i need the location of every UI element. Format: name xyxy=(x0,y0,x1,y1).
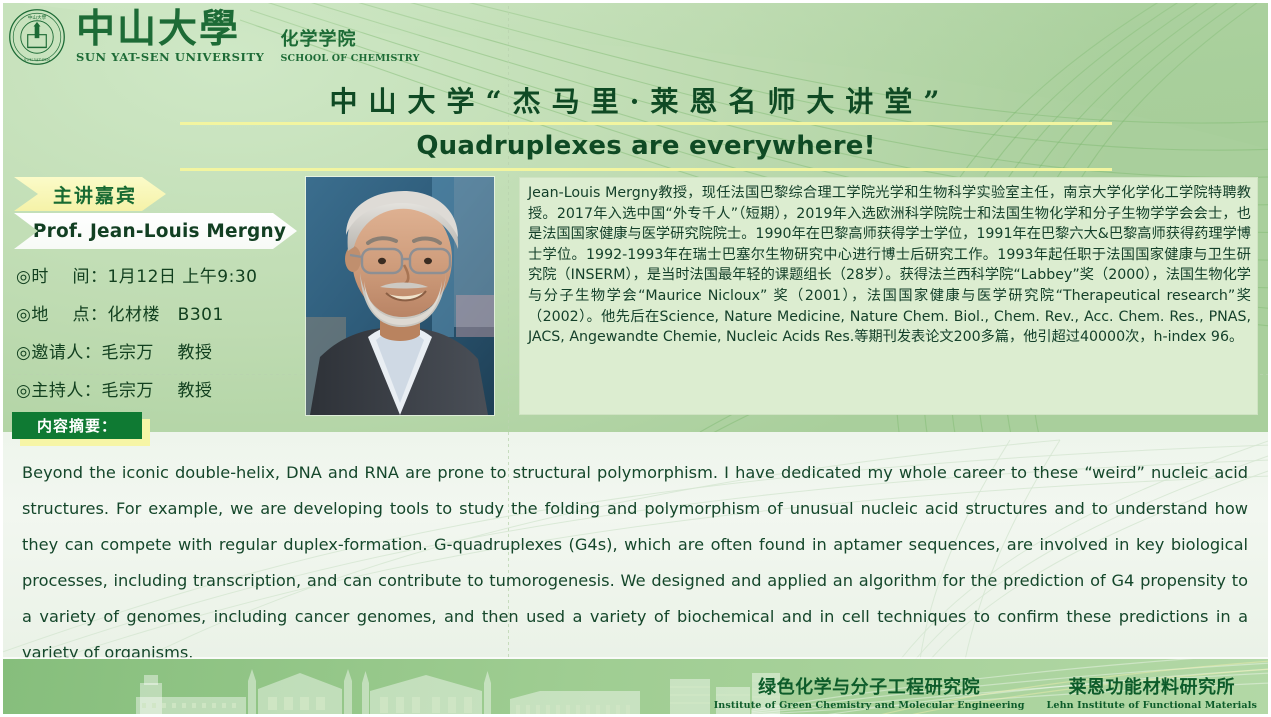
speaker-biography-panel: Jean-Louis Mergny教授，现任法国巴黎综合理工学院光学和生物科学实… xyxy=(519,177,1258,415)
speaker-portrait-photo xyxy=(306,177,494,415)
lecture-detail-host: ◎主持人：毛宗万 教授 xyxy=(16,376,316,401)
institute-green-chemistry: 绿色化学与分子工程研究院 Institute of Green Chemistr… xyxy=(714,673,1025,711)
institute-name-cn: 莱恩功能材料研究所 xyxy=(1047,673,1257,699)
title-divider-top xyxy=(180,122,1112,125)
lecture-series-title-cn: 中山大学“杰马里·莱恩名师大讲堂” xyxy=(170,80,1110,120)
university-name-cn: 中山大學 xyxy=(76,10,264,50)
lecture-detail-time: ◎时 间：1月12日 上午9:30 xyxy=(16,262,316,287)
lecture-detail-inviter: ◎邀请人：毛宗万 教授 xyxy=(16,338,316,363)
footer-institute-logos: 绿色化学与分子工程研究院 Institute of Green Chemistr… xyxy=(714,673,1257,711)
school-name-cn: 化学学院 xyxy=(280,25,419,51)
university-seal-icon: 中山大學 SUN YAT-SEN xyxy=(8,8,66,66)
svg-text:SUN YAT-SEN: SUN YAT-SEN xyxy=(24,58,51,62)
speaker-name-label: Prof. Jean-Louis Mergny xyxy=(25,221,286,242)
title-divider-bottom xyxy=(180,168,1112,171)
abstract-tab: 内容摘要： xyxy=(12,412,142,439)
lecture-details-list: ◎时 间：1月12日 上午9:30 ◎地 点：化材楼 B301 ◎邀请人：毛宗万… xyxy=(16,262,316,414)
lecture-title-en: Quadruplexes are everywhere! xyxy=(180,131,1112,161)
abstract-tab-label: 内容摘要： xyxy=(37,415,117,436)
university-name-en: SUN YAT-SEN UNIVERSITY xyxy=(76,50,264,64)
svg-text:中山大學: 中山大學 xyxy=(28,14,47,21)
institute-name-en: Institute of Green Chemistry and Molecul… xyxy=(714,700,1025,711)
lecture-detail-venue: ◎地 点：化材楼 B301 xyxy=(16,300,316,325)
footer-top-divider xyxy=(0,657,1271,659)
institute-name-cn: 绿色化学与分子工程研究院 xyxy=(714,673,1025,699)
institute-name-en: Lehn Institute of Functional Materials xyxy=(1047,700,1257,711)
abstract-text: Beyond the iconic double-helix, DNA and … xyxy=(22,455,1248,655)
campus-skyline-icon xyxy=(40,667,800,717)
institute-lehn-functional-materials: 莱恩功能材料研究所 Lehn Institute of Functional M… xyxy=(1047,673,1257,711)
school-name-en: SCHOOL OF CHEMISTRY xyxy=(280,53,419,64)
lecture-poster: 中山大學 SUN YAT-SEN 中山大學 SUN YAT-SEN UNIVER… xyxy=(0,0,1271,717)
speaker-name-banner: Prof. Jean-Louis Mergny xyxy=(14,213,297,249)
guest-speaker-label: 主讲嘉宾 xyxy=(43,181,137,208)
university-branding: 中山大學 SUN YAT-SEN 中山大學 SUN YAT-SEN UNIVER… xyxy=(8,8,420,66)
